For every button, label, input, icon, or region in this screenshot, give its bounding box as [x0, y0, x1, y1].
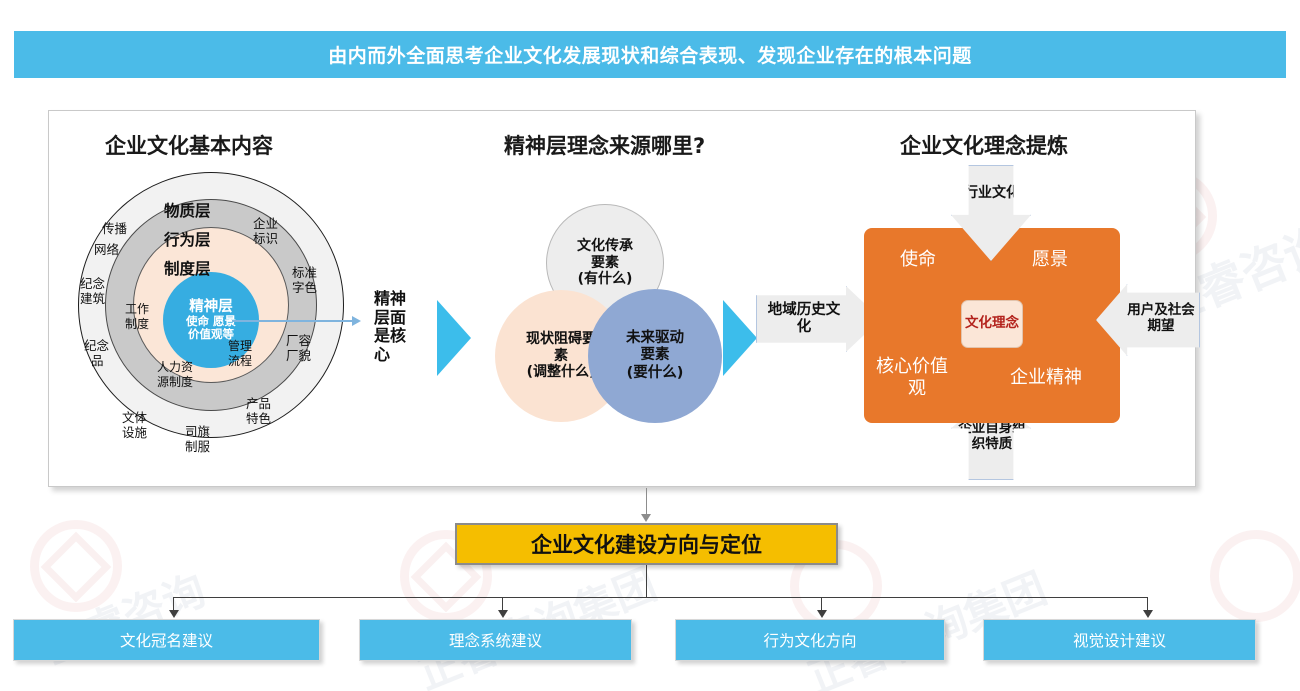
- ring-label-institution: 制度层: [164, 257, 211, 279]
- outcome-box-visual-design-label: 视觉设计建议: [1073, 629, 1166, 651]
- ring-inner-label: 制度: [125, 318, 149, 331]
- ring-outer-label: 纪念: [80, 277, 105, 290]
- ring-inner-label: 源制度: [157, 376, 193, 389]
- ring-outer-label: 标识: [253, 232, 278, 245]
- tree-branch-arrow-icon-1: [169, 610, 179, 618]
- core-connector-arrow-icon: [352, 316, 361, 326]
- venn-circle-future: 未来驱动 要素 (要什么): [588, 289, 722, 423]
- arrow-triangle-icon-1: [437, 300, 471, 376]
- outcome-box-behavior-direction[interactable]: 行为文化方向: [675, 619, 945, 661]
- slide-root: 正睿咨询集团 正睿咨询集团 正睿咨询 正睿咨询 正睿咨询集团 正睿咨询集团 由内…: [0, 0, 1300, 691]
- venn-right-line2: 要素: [626, 347, 684, 364]
- outcome-box-concept-system[interactable]: 理念系统建议: [359, 619, 632, 661]
- outcome-box-behavior-direction-label: 行为文化方向: [763, 629, 856, 651]
- ring-outer-label: 设施: [122, 426, 147, 439]
- venn-left-line3: (调整什么): [526, 364, 596, 381]
- outcome-box-naming[interactable]: 文化冠名建议: [13, 619, 320, 661]
- outcome-box-visual-design[interactable]: 视觉设计建议: [983, 619, 1256, 661]
- venn-top-line2: 要素: [577, 255, 633, 272]
- section-title-refine: 企业文化理念提炼: [900, 130, 1068, 160]
- ring-inner-label: 工作: [125, 303, 149, 316]
- core-connector-line: [232, 320, 354, 322]
- ring-outer-label: 特色: [246, 412, 271, 425]
- arrow-box-regional-history-label: 地域历史文化: [763, 302, 845, 335]
- ring-outer-label: 建筑: [80, 292, 105, 305]
- section-title-basic: 企业文化基本内容: [105, 130, 273, 160]
- orange-label-mission: 使命: [900, 250, 936, 270]
- panel-to-yellow-arrow-icon: [641, 514, 651, 522]
- orange-label-vision: 愿景: [1032, 250, 1068, 270]
- watermark-logo: [41, 532, 112, 603]
- venn-top-line3: (有什么): [577, 271, 633, 288]
- ring-outer-label: 标准: [292, 266, 317, 279]
- slide-title-bar: 由内而外全面思考企业文化发展现状和综合表现、发现企业存在的根本问题: [14, 31, 1286, 78]
- venn-right-line3: (要什么): [626, 365, 684, 382]
- ring-outer-label: 产品: [246, 397, 271, 410]
- spirit-core-note: 精神层面是核心: [374, 290, 414, 364]
- tree-trunk-line: [646, 565, 647, 598]
- ring-label-behavior: 行为层: [164, 228, 211, 250]
- tree-horizontal-line: [173, 597, 1147, 598]
- section-title-source: 精神层理念来源哪里?: [504, 130, 705, 160]
- orange-label-enterprise-spirit: 企业精神: [1010, 368, 1082, 388]
- venn-left-line1: 现状阻碍要: [526, 331, 596, 348]
- outcome-box-naming-label: 文化冠名建议: [120, 629, 213, 651]
- arrow-box-user-expectation-label: 用户及社会期望: [1123, 302, 1199, 334]
- ring-outer-label: 品: [91, 354, 104, 367]
- panel-to-yellow-line: [646, 488, 647, 516]
- orange-center-culture-concept: 文化理念: [961, 300, 1023, 348]
- ring-outer-label: 司旗: [185, 425, 210, 438]
- venn-top-line1: 文化传承: [577, 238, 633, 255]
- ring-outer-label: 企业: [253, 217, 278, 230]
- ring-outer-label: 厂貌: [286, 349, 311, 362]
- ring-outer-label: 文体: [122, 411, 147, 424]
- ring-outer-label: 传播: [102, 222, 127, 235]
- orange-label-core-values-1: 核心价值: [876, 357, 948, 377]
- ring-inner-label: 流程: [228, 355, 252, 368]
- watermark-logo: [30, 520, 122, 612]
- ring-outer-label: 纪念: [84, 339, 109, 352]
- orange-label-core-values-2: 观: [908, 379, 926, 399]
- spirit-core-title: 精神层: [189, 299, 233, 315]
- watermark-logo: [1210, 530, 1300, 622]
- ring-inner-label: 人力资: [157, 361, 193, 374]
- ring-outer-label: 字色: [292, 281, 317, 294]
- direction-positioning-label: 企业文化建设方向与定位: [531, 529, 762, 559]
- ring-inner-label: 管理: [228, 340, 252, 353]
- arrow-triangle-icon-2: [723, 300, 757, 376]
- outcome-box-concept-system-label: 理念系统建议: [449, 629, 542, 651]
- ring-outer-label: 制服: [185, 440, 210, 453]
- ring-label-material: 物质层: [164, 199, 211, 221]
- slide-title-text: 由内而外全面思考企业文化发展现状和综合表现、发现企业存在的根本问题: [328, 41, 972, 68]
- tree-branch-arrow-icon-4: [1143, 610, 1153, 618]
- venn-left-line2: 素: [526, 348, 596, 365]
- ring-outer-label: 厂容: [286, 334, 311, 347]
- ring-outer-label: 网络: [94, 243, 119, 256]
- direction-positioning-box[interactable]: 企业文化建设方向与定位: [455, 523, 838, 565]
- tree-branch-arrow-icon-2: [498, 610, 508, 618]
- venn-right-line1: 未来驱动: [626, 330, 684, 347]
- tree-branch-arrow-icon-3: [817, 610, 827, 618]
